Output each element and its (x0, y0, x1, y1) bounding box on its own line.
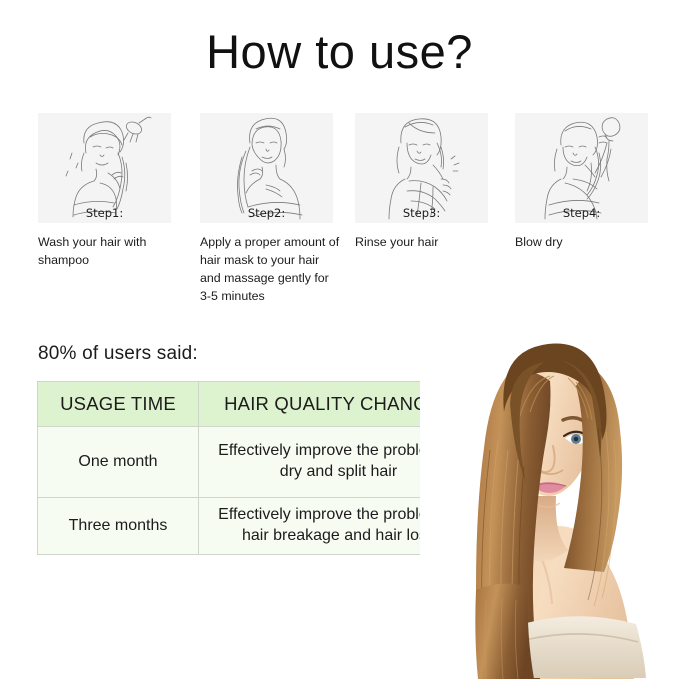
cell-usage-time-three-months: Three months (38, 498, 199, 555)
step-4-label: Step4: (515, 206, 648, 220)
step-item: Step2: Apply a proper amount of hair mas… (200, 113, 333, 306)
step-1-image-box: Step1: (38, 113, 171, 223)
step-2-image-box: Step2: (200, 113, 333, 223)
step-1-label: Step1: (38, 206, 171, 220)
step-item: Step4: Blow dry (515, 113, 648, 252)
steps-strip: Step1: Wash your hair with shampoo (38, 113, 646, 303)
table-header: USAGE TIME HAIR QUALITY CHANGES (38, 382, 479, 427)
step-3-image-box: Step3: (355, 113, 488, 223)
model-photo (420, 300, 679, 679)
table-body: One month Effectively improve the proble… (38, 427, 479, 555)
step-3-caption: Rinse your hair (355, 234, 497, 252)
step-item: Step3: Rinse your hair (355, 113, 488, 252)
table-row: One month Effectively improve the proble… (38, 427, 479, 498)
step-item: Step1: Wash your hair with shampoo (38, 113, 171, 270)
step-4-image-box: Step4: (515, 113, 648, 223)
hair-quality-results-table: USAGE TIME HAIR QUALITY CHANGES One mont… (37, 381, 479, 555)
column-header-usage-time: USAGE TIME (38, 382, 199, 427)
table-header-row: USAGE TIME HAIR QUALITY CHANGES (38, 382, 479, 427)
step-4-caption: Blow dry (515, 234, 657, 252)
step-3-label: Step3: (355, 206, 488, 220)
table-row: Three months Effectively improve the pro… (38, 498, 479, 555)
survey-heading: 80% of users said: (38, 343, 198, 365)
step-2-caption: Apply a proper amount of hair mask to yo… (200, 234, 342, 306)
step-2-label: Step2: (200, 206, 333, 220)
step-1-caption: Wash your hair with shampoo (38, 234, 180, 270)
page-title: How to use? (0, 26, 679, 78)
cell-usage-time-one-month: One month (38, 427, 199, 498)
woman-with-long-straight-brown-hair-portrait-image (420, 300, 679, 679)
